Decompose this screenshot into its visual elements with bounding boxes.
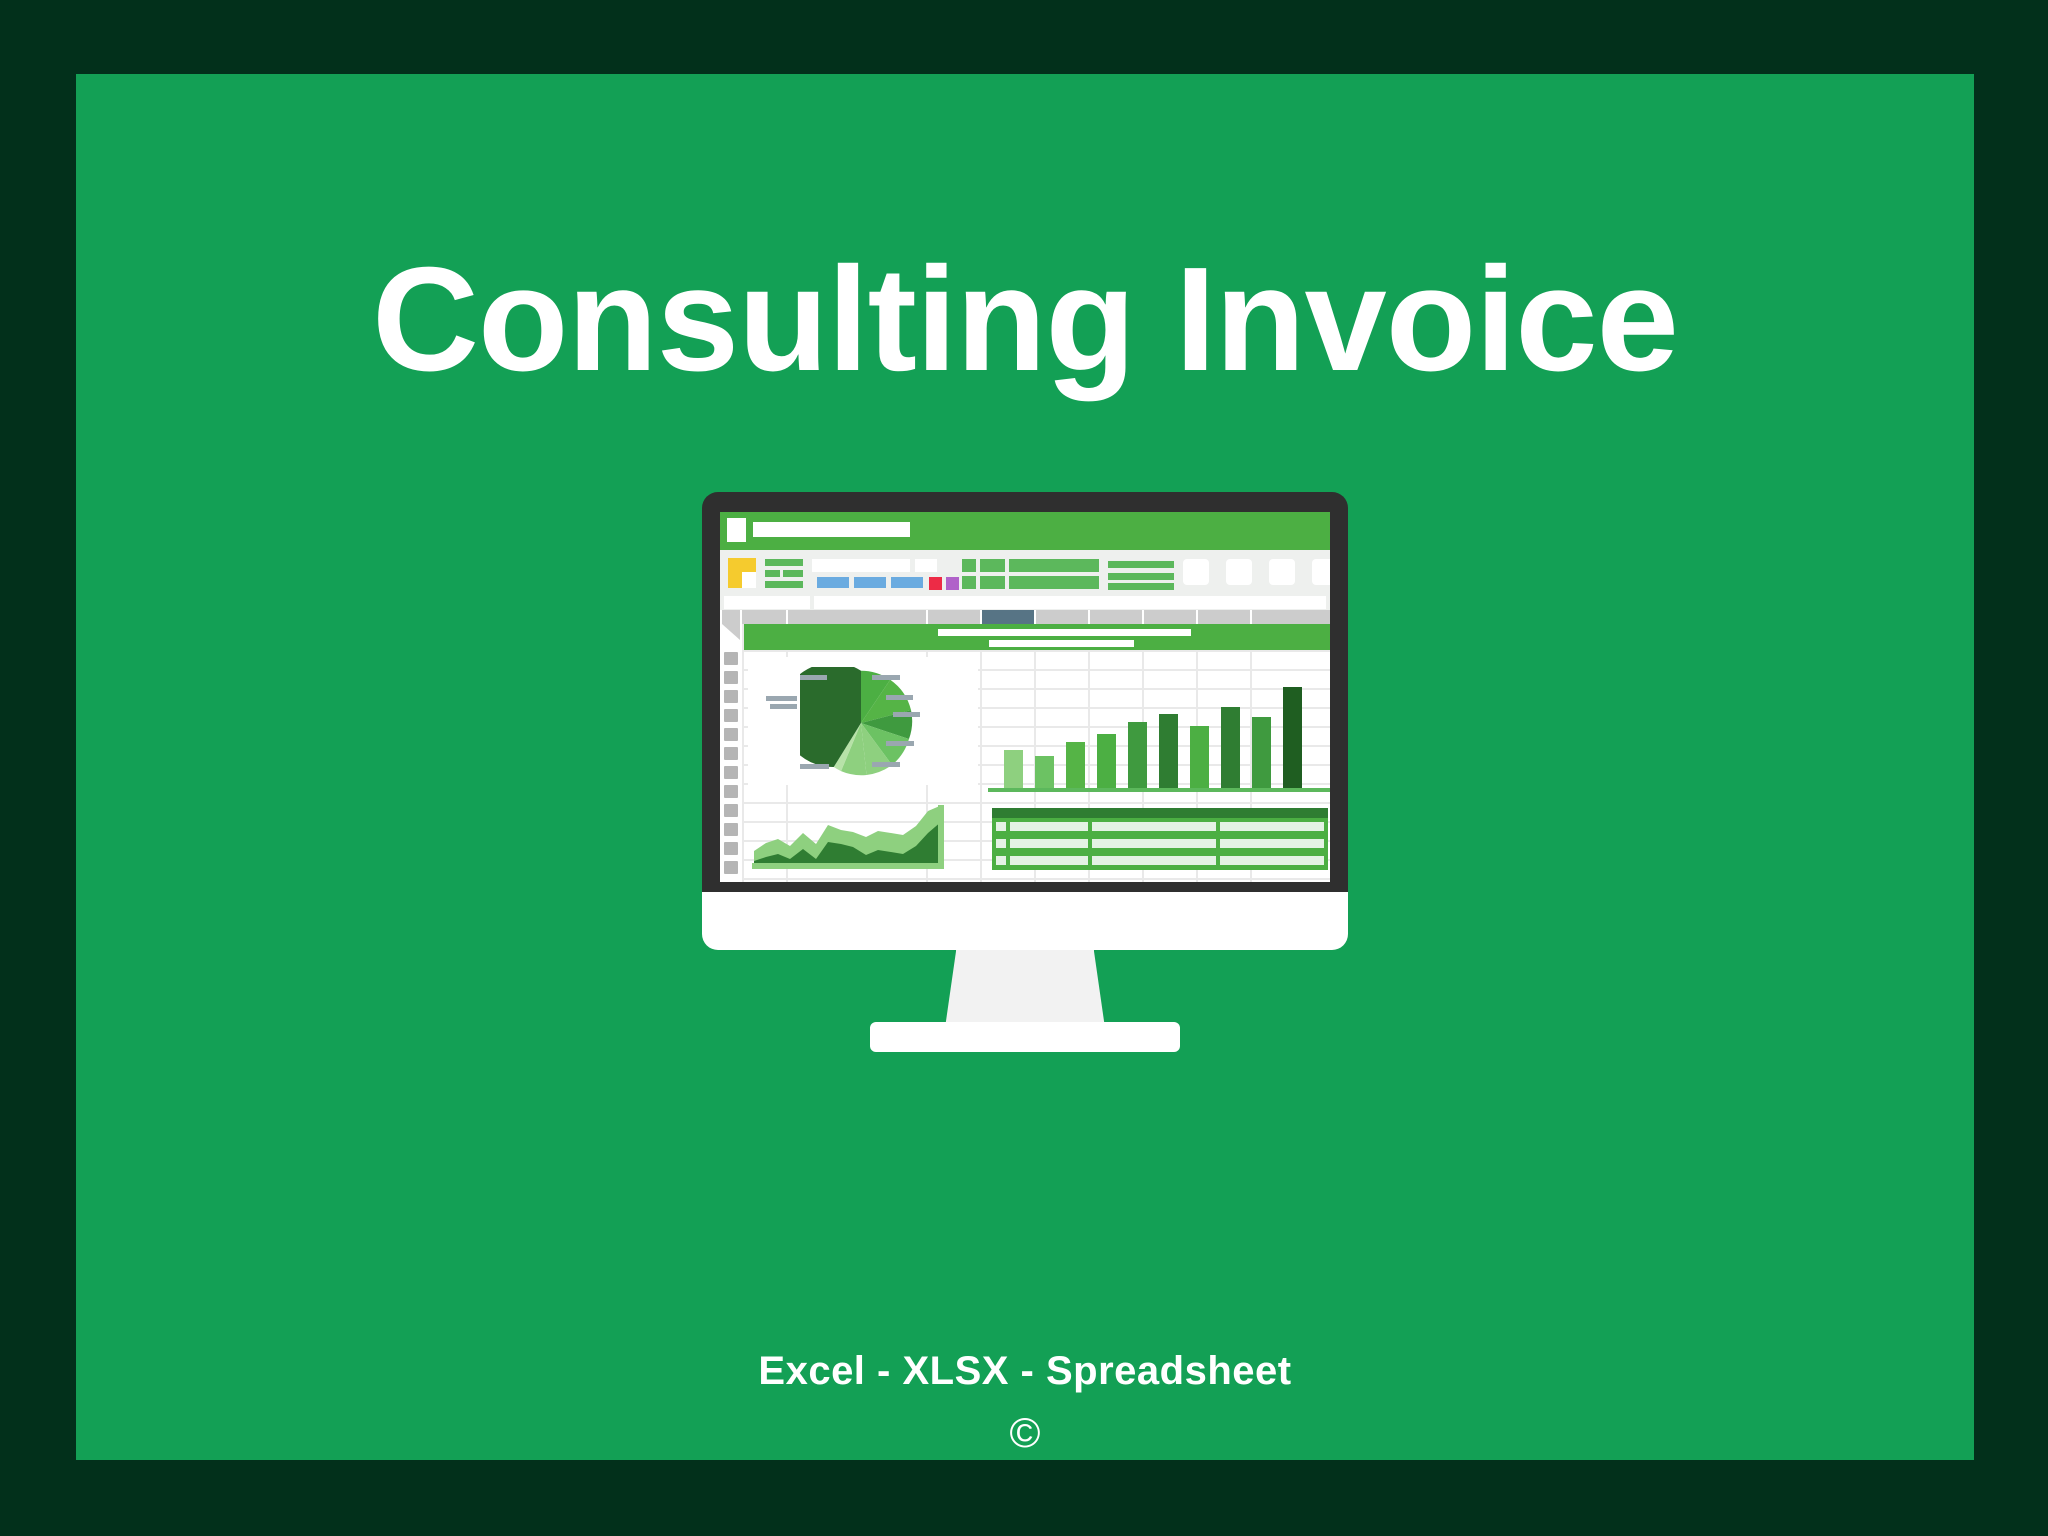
pie-label-line: [800, 675, 827, 680]
bar: [1128, 722, 1147, 788]
document-name-bar: [753, 522, 910, 537]
ribbon-size-field[interactable]: [915, 559, 937, 572]
summary-table-cell: [1010, 856, 1088, 865]
pie-label-line: [800, 764, 829, 769]
gridline: [980, 624, 982, 882]
ribbon-font-field[interactable]: [812, 559, 910, 572]
ribbon-number-format-bar[interactable]: [1108, 561, 1174, 568]
bar: [1159, 714, 1178, 788]
footer: Excel - XLSX - Spreadsheet ©: [76, 1349, 1974, 1454]
row-header-cell[interactable]: [724, 766, 738, 779]
summary-table-cell: [1092, 856, 1216, 865]
gridline: [742, 624, 744, 882]
ribbon-text-color-swatch[interactable]: [946, 577, 959, 590]
copyright-icon: ©: [76, 1412, 1974, 1454]
column-header-cell[interactable]: [1198, 610, 1250, 624]
monitor-bezel: [702, 492, 1348, 892]
summary-table-cell: [1092, 822, 1216, 831]
bar-chart[interactable]: [988, 664, 1330, 792]
row-header-cell[interactable]: [724, 671, 738, 684]
summary-table-cell: [1092, 839, 1216, 848]
row-header-cell[interactable]: [724, 728, 738, 741]
footer-format-label: Excel - XLSX - Spreadsheet: [76, 1349, 1974, 1394]
summary-table-cell: [996, 822, 1006, 831]
area-chart-svg: [748, 799, 968, 877]
row-header-cell[interactable]: [724, 690, 738, 703]
row-header-cell[interactable]: [724, 652, 738, 665]
name-box[interactable]: [724, 596, 810, 609]
column-header-cell[interactable]: [742, 610, 786, 624]
ribbon-tool-button[interactable]: [1183, 559, 1209, 585]
column-header-cell[interactable]: [788, 610, 926, 624]
summary-table-cell: [996, 839, 1006, 848]
ribbon-blue-button[interactable]: [817, 577, 849, 588]
bar: [1035, 756, 1054, 788]
bar: [1221, 707, 1240, 788]
ribbon-number-format-bar[interactable]: [1108, 583, 1174, 590]
ribbon-blue-button[interactable]: [854, 577, 886, 588]
poster-canvas: Consulting Invoice: [0, 0, 2048, 1536]
summary-table-cell: [1010, 839, 1088, 848]
row-header-cell[interactable]: [724, 785, 738, 798]
monitor-screen: [720, 512, 1330, 882]
monitor-stand: [945, 950, 1105, 1028]
column-header-cell[interactable]: [1036, 610, 1088, 624]
gridline: [742, 878, 1330, 880]
spreadsheet-grid[interactable]: [720, 624, 1330, 882]
page-title: Consulting Invoice: [76, 242, 1974, 397]
ribbon-green-bar[interactable]: [783, 570, 803, 577]
pie-label-line: [886, 695, 913, 700]
bar: [1252, 717, 1271, 788]
column-header-row: [720, 610, 1330, 624]
folder-icon-notch: [742, 572, 756, 588]
sheet-title-banner: [744, 624, 1330, 650]
column-header-cell[interactable]: [1090, 610, 1142, 624]
pie-label-line: [872, 675, 900, 680]
ribbon-style-bar[interactable]: [1009, 559, 1099, 572]
app-icon: [727, 518, 746, 542]
summary-table-cell: [1220, 822, 1324, 831]
column-header-cell[interactable]: [928, 610, 980, 624]
ribbon-blue-button[interactable]: [891, 577, 923, 588]
ribbon-align-icon[interactable]: [962, 576, 976, 589]
ribbon-green-bar[interactable]: [765, 581, 803, 588]
row-header-cell[interactable]: [724, 747, 738, 760]
monitor-base: [870, 1022, 1180, 1052]
gridline: [742, 650, 1330, 652]
ribbon-align-icon[interactable]: [980, 576, 1005, 589]
ribbon-style-bar[interactable]: [1009, 576, 1099, 589]
bar: [1283, 687, 1302, 788]
row-header-cell[interactable]: [724, 861, 738, 874]
formula-input[interactable]: [814, 596, 1326, 609]
spreadsheet-ribbon: [720, 550, 1330, 595]
bar: [1004, 750, 1023, 788]
pie-chart: [800, 667, 922, 779]
bar: [1066, 742, 1085, 788]
monitor-chin: [702, 892, 1348, 950]
bar-chart-axis: [988, 788, 1330, 792]
summary-table-cell: [1010, 822, 1088, 831]
ribbon-green-bar[interactable]: [765, 570, 780, 577]
column-header-corner[interactable]: [722, 610, 740, 624]
ribbon-align-icon[interactable]: [980, 559, 1005, 572]
pie-label-line: [770, 704, 797, 709]
column-header-cell[interactable]: [1144, 610, 1196, 624]
column-header-cell[interactable]: [1252, 610, 1330, 624]
row-header-cell[interactable]: [724, 709, 738, 722]
summary-table-cell: [1220, 839, 1324, 848]
ribbon-tool-button[interactable]: [1312, 559, 1330, 585]
summary-table[interactable]: [992, 808, 1328, 870]
formula-bar: [720, 595, 1330, 610]
pie-chart-panel[interactable]: [748, 657, 978, 785]
sheet-title-line-2: [989, 640, 1134, 647]
pie-label-line: [872, 762, 900, 767]
row-header-cell[interactable]: [724, 823, 738, 836]
sheet-title-line-1: [938, 629, 1191, 636]
monitor-illustration: [702, 492, 1348, 1044]
row-header-cell[interactable]: [724, 804, 738, 817]
bar: [1097, 734, 1116, 788]
row-header-column: [720, 624, 742, 882]
row-header-cell[interactable]: [724, 842, 738, 855]
poster-panel: Consulting Invoice: [76, 74, 1974, 1460]
summary-table-cell: [1220, 856, 1324, 865]
summary-table-cell: [996, 856, 1006, 865]
ribbon-number-format-bar[interactable]: [1108, 573, 1174, 580]
select-all-corner[interactable]: [722, 624, 740, 640]
pie-label-line: [886, 741, 914, 746]
bar: [1190, 726, 1209, 788]
spreadsheet-titlebar: [720, 512, 1330, 550]
ribbon-fill-color-swatch[interactable]: [929, 577, 942, 590]
ribbon-tool-button[interactable]: [1226, 559, 1252, 585]
column-header-cell-selected[interactable]: [982, 610, 1034, 624]
pie-label-line: [893, 712, 920, 717]
ribbon-tool-button[interactable]: [1269, 559, 1295, 585]
pie-label-line: [766, 696, 797, 701]
ribbon-align-icon[interactable]: [962, 559, 976, 572]
summary-table-header-row: [992, 808, 1328, 818]
area-chart[interactable]: [748, 799, 968, 877]
ribbon-green-bar[interactable]: [765, 559, 803, 566]
